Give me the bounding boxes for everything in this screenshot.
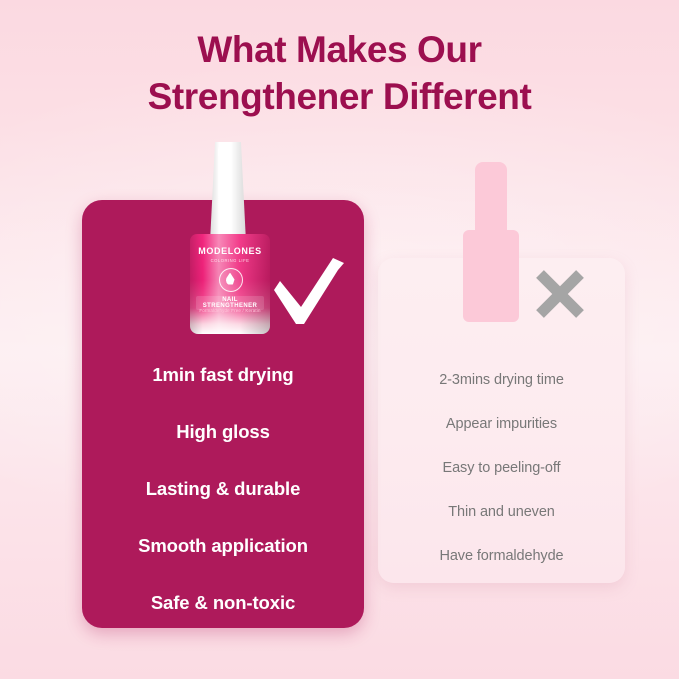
bottle-cap: [210, 142, 246, 242]
list-item: Lasting & durable: [82, 460, 364, 517]
pros-list: 1min fast drying High gloss Lasting & du…: [82, 346, 364, 631]
ghost-bottle-body: [463, 230, 519, 322]
brand-tagline: COLORING LIFE: [190, 258, 270, 263]
page-title-line-2: Strengthener Different: [0, 73, 679, 120]
product-bottle-image: MODELONES COLORING LIFE NAIL STRENGTHENE…: [186, 142, 274, 334]
list-item: Appear impurities: [378, 402, 625, 446]
bottle-cap-highlight: [218, 146, 225, 238]
page-title-line-1: What Makes Our: [197, 29, 481, 70]
list-item: Thin and uneven: [378, 490, 625, 534]
list-item: Smooth application: [82, 517, 364, 574]
ghost-bottle-icon: [463, 162, 519, 322]
product-tagline-label: Formaldehyde Free / Keratin: [190, 308, 270, 313]
list-item: Easy to peeling-off: [378, 446, 625, 490]
ghost-bottle-neck: [475, 162, 507, 240]
list-item: Have formaldehyde: [378, 534, 625, 578]
list-item: 2-3mins drying time: [378, 358, 625, 402]
page-title: What Makes Our Strengthener Different: [0, 26, 679, 120]
check-icon: [270, 254, 346, 334]
list-item: Safe & non-toxic: [82, 574, 364, 631]
brand-name: MODELONES: [190, 246, 270, 256]
list-item: High gloss: [82, 403, 364, 460]
cons-list: 2-3mins drying time Appear impurities Ea…: [378, 358, 625, 578]
list-item: 1min fast drying: [82, 346, 364, 403]
bottle-body: MODELONES COLORING LIFE NAIL STRENGTHENE…: [190, 234, 270, 334]
promo-comparison-graphic: What Makes Our Strengthener Different 2-…: [0, 0, 679, 679]
x-icon: [532, 266, 588, 322]
